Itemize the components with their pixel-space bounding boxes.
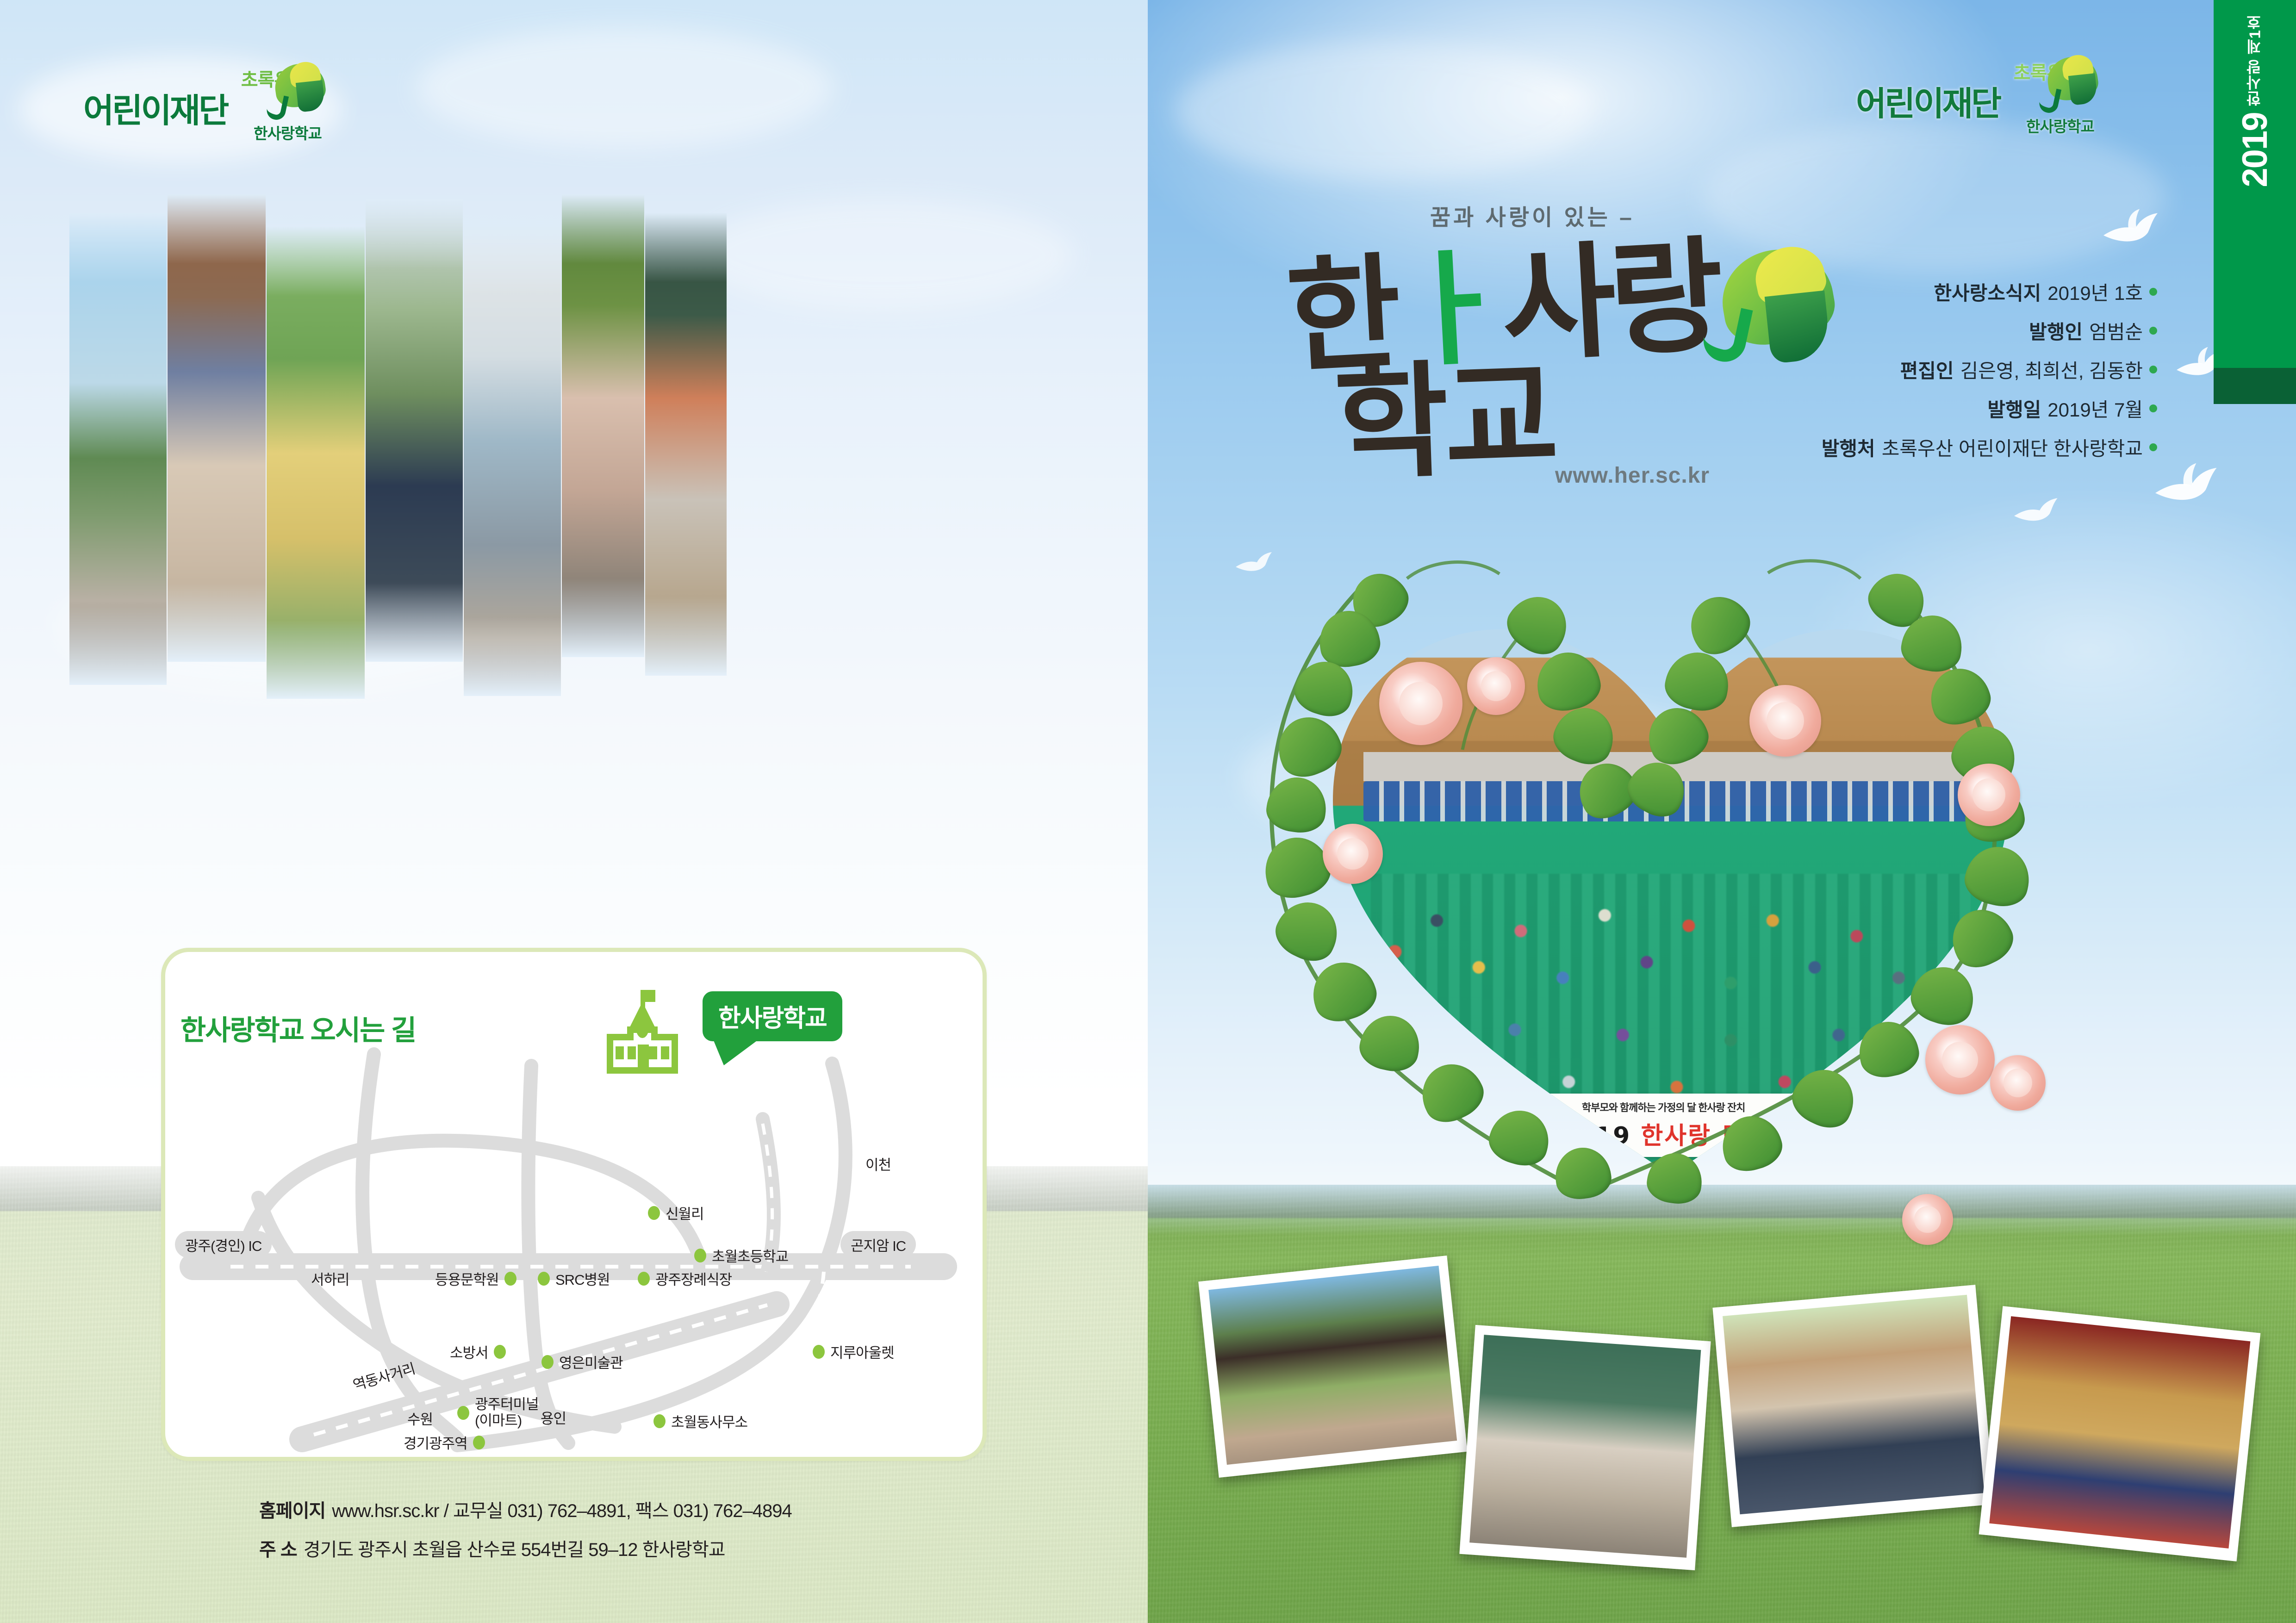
map-poi-dot-icon <box>494 1345 506 1359</box>
map-poi-label: SRC병원 <box>555 1268 610 1289</box>
map-poi-dot-icon <box>694 1249 706 1262</box>
rose-flower-icon <box>1990 1055 2046 1111</box>
bottom-photo-card <box>1712 1285 1994 1527</box>
collage-photo <box>562 194 644 657</box>
photo-collage <box>69 194 727 685</box>
collage-photo <box>645 213 727 676</box>
foundation-logo-left: 초록우산 어린이재단 한사랑학교 <box>83 65 370 153</box>
masthead-value: 엄범순 <box>2089 317 2143 345</box>
newsletter-cover-spread: 2019 한사랑 제1호 초록우산 어린이재단 한사랑학교 초록우산 어린이재단… <box>0 0 2296 1623</box>
collage-photo <box>69 213 167 685</box>
map-poi: 광주장례식장 <box>638 1268 732 1289</box>
map-poi-label: 광주터미널 <box>475 1397 539 1413</box>
map-road-label: 이천 <box>865 1153 891 1174</box>
map-poi-dot-icon <box>457 1406 469 1420</box>
masthead-row: 발행처 초록우산 어린이재단 한사랑학교 <box>1822 433 2157 461</box>
map-poi: 신월리 <box>648 1202 704 1223</box>
heart-ivy-frame: 어린이재단 한사랑학교 학부모와 함께하는 가정의 달 한사랑 잔치 2019 … <box>1213 546 2120 1231</box>
masthead-value: 초록우산 어린이재단 한사랑학교 <box>1882 433 2143 461</box>
school-map-label-bubble: 한사랑학교 <box>703 991 842 1041</box>
footer-address-value: 경기도 광주시 초월읍 산수로 554번길 59–12 한사랑학교 <box>304 1535 725 1561</box>
map-poi-label: 경기광주역 <box>404 1432 467 1453</box>
footer-address-key: 주 소 <box>259 1535 297 1561</box>
map-poi: 경기광주역 <box>404 1432 485 1453</box>
map-canvas <box>161 948 978 1453</box>
collage-photo <box>366 199 463 662</box>
masthead-row: 발행일 2019년 7월 <box>1822 394 2157 423</box>
dove-icon <box>2097 204 2166 255</box>
masthead-key: 한사랑소식지 <box>1934 278 2041 306</box>
bottom-photo-card <box>1459 1325 1711 1570</box>
masthead-key: 발행일 <box>1987 394 2041 423</box>
map-poi-label: 초월동사무소 <box>671 1411 747 1431</box>
footer-address-row: 주 소 경기도 광주시 초월읍 산수로 554번길 59–12 한사랑학교 <box>259 1535 792 1561</box>
bullet-dot-icon <box>2149 288 2157 296</box>
map-roads <box>161 948 978 1453</box>
footer-homepage-row: 홈페이지 www.hsr.sc.kr / 교무실 031) 762–4891, … <box>259 1496 792 1523</box>
masthead-row: 발행인 엄범순 <box>1822 317 2157 345</box>
map-poi-label: 초월초등학교 <box>712 1245 788 1266</box>
dove-icon <box>2009 491 2064 531</box>
rose-flower-icon <box>1323 824 1383 884</box>
logo-school-text: 한사랑학교 <box>2026 114 2094 137</box>
map-poi-dot-icon <box>504 1272 516 1286</box>
bullet-dot-icon <box>2149 404 2157 412</box>
map-poi-dot-icon <box>648 1206 660 1220</box>
bullet-dot-icon <box>2149 443 2157 451</box>
map-poi: 등용문학원 <box>435 1268 516 1289</box>
map-poi-dot-icon <box>538 1272 550 1286</box>
map-road-label: 용인 <box>541 1407 566 1428</box>
map-poi-dot-icon <box>813 1345 825 1359</box>
map-ic-right: 곤지암 IC <box>840 1231 916 1258</box>
collage-photo <box>168 194 266 662</box>
bullet-dot-icon <box>2149 366 2157 373</box>
issue-spine-tab-foot <box>2214 368 2296 404</box>
masthead-key: 편집인 <box>1900 355 1954 384</box>
map-poi-label: 소방서 <box>450 1341 488 1362</box>
map-poi: 소방서 <box>450 1341 506 1362</box>
map-poi-dot-icon <box>638 1272 650 1286</box>
map-poi-dot-icon <box>653 1414 666 1428</box>
rose-flower-icon <box>1467 657 1525 715</box>
map-poi: 지루아울렛 <box>813 1341 894 1362</box>
bottom-photo-card <box>1198 1256 1468 1478</box>
map-poi: 광주터미널 (이마트) <box>457 1397 539 1429</box>
masthead-value: 2019년 1호 <box>2047 278 2143 306</box>
foundation-logo-right: 초록우산 어린이재단 한사랑학교 <box>1856 58 2143 146</box>
map-poi-label: 신월리 <box>666 1202 704 1223</box>
map-poi: 초월초등학교 <box>694 1245 788 1266</box>
masthead-key: 발행처 <box>1822 433 1875 461</box>
collage-photo <box>267 227 365 699</box>
rose-flower-icon <box>1902 1194 1953 1245</box>
rose-flower-icon <box>1379 662 1462 745</box>
collage-photo <box>464 224 561 696</box>
rose-flower-icon <box>1925 1025 1995 1094</box>
map-road-label: 서하리 <box>311 1268 349 1289</box>
map-poi-label-second-line: (이마트) <box>475 1413 539 1429</box>
map-poi-label: 등용문학원 <box>435 1268 499 1289</box>
rose-flower-icon <box>1749 685 1821 757</box>
map-poi: 영은미술관 <box>541 1351 623 1372</box>
masthead-value: 김은영, 최희선, 김동한 <box>1960 355 2143 384</box>
cover-title-line-2: 학교 <box>1331 317 1556 504</box>
dove-icon <box>2147 458 2226 514</box>
spine-year: 2019 <box>2235 113 2275 187</box>
map-poi-dot-icon <box>473 1436 485 1449</box>
logo-main-text: 어린이재단 <box>1856 76 2000 125</box>
map-poi-label: 지루아울렛 <box>830 1341 894 1362</box>
masthead-row: 편집인 김은영, 최희선, 김동한 <box>1822 355 2157 384</box>
map-poi-label: 영은미술관 <box>559 1351 623 1372</box>
spine-issue: 한사랑 제1호 <box>2244 14 2266 106</box>
issue-spine-text-wrap: 2019 한사랑 제1호 <box>2214 0 2296 368</box>
logo-main-text: 어린이재단 <box>83 83 227 132</box>
footer-homepage-value: www.hsr.sc.kr / 교무실 031) 762–4891, 팩스 03… <box>332 1496 792 1523</box>
footer-homepage-key: 홈페이지 <box>259 1496 325 1523</box>
map-poi: 초월동사무소 <box>653 1411 747 1431</box>
map-poi-dot-icon <box>541 1355 554 1369</box>
logo-school-text: 한사랑학교 <box>254 121 322 143</box>
map-poi-label: 광주장례식장 <box>655 1268 732 1289</box>
masthead-value: 2019년 7월 <box>2047 394 2143 423</box>
masthead-key: 발행인 <box>2029 317 2083 345</box>
school-building-icon <box>597 987 690 1080</box>
map-road-label: 수원 <box>407 1408 433 1429</box>
masthead-row: 한사랑소식지 2019년 1호 <box>1822 278 2157 306</box>
map-poi: SRC병원 <box>538 1268 610 1289</box>
cover-url: www.her.sc.kr <box>1555 463 1710 488</box>
masthead-info-list: 한사랑소식지 2019년 1호 발행인 엄범순 편집인 김은영, 최희선, 김동… <box>1822 278 2157 472</box>
footer-contact-info: 홈페이지 www.hsr.sc.kr / 교무실 031) 762–4891, … <box>259 1496 792 1573</box>
rose-flower-icon <box>1958 764 2020 826</box>
bottom-photo-card <box>1979 1306 2261 1561</box>
bullet-dot-icon <box>2149 327 2157 335</box>
map-ic-left: 광주(경인) IC <box>175 1231 272 1258</box>
